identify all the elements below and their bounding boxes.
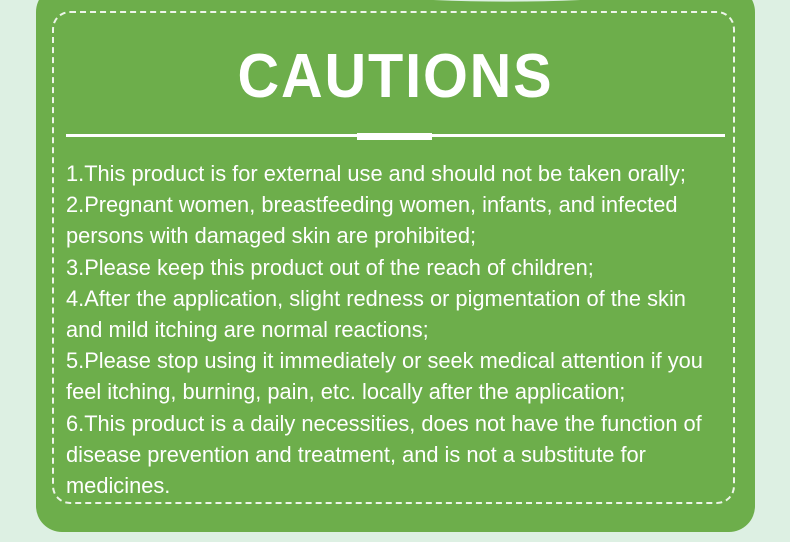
caution-item: 5.Please stop using it immediately or se… xyxy=(66,345,718,407)
caution-item: 4.After the application, slight redness … xyxy=(66,283,718,345)
caution-item: 2.Pregnant women, breastfeeding women, i… xyxy=(66,189,718,251)
caution-card: CAUTIONS 1.This product is for external … xyxy=(36,0,755,532)
title-divider xyxy=(66,131,725,141)
caution-item: 6.This product is a daily necessities, d… xyxy=(66,408,718,502)
caution-item: 1.This product is for external use and s… xyxy=(66,158,718,189)
divider-center-block xyxy=(357,133,432,140)
card-top-wave-decoration xyxy=(36,0,755,8)
caution-item: 3.Please keep this product out of the re… xyxy=(66,252,718,283)
caution-banner-page: CAUTIONS 1.This product is for external … xyxy=(0,0,790,542)
cautions-list: 1.This product is for external use and s… xyxy=(66,158,718,501)
page-title: CAUTIONS xyxy=(61,45,730,109)
